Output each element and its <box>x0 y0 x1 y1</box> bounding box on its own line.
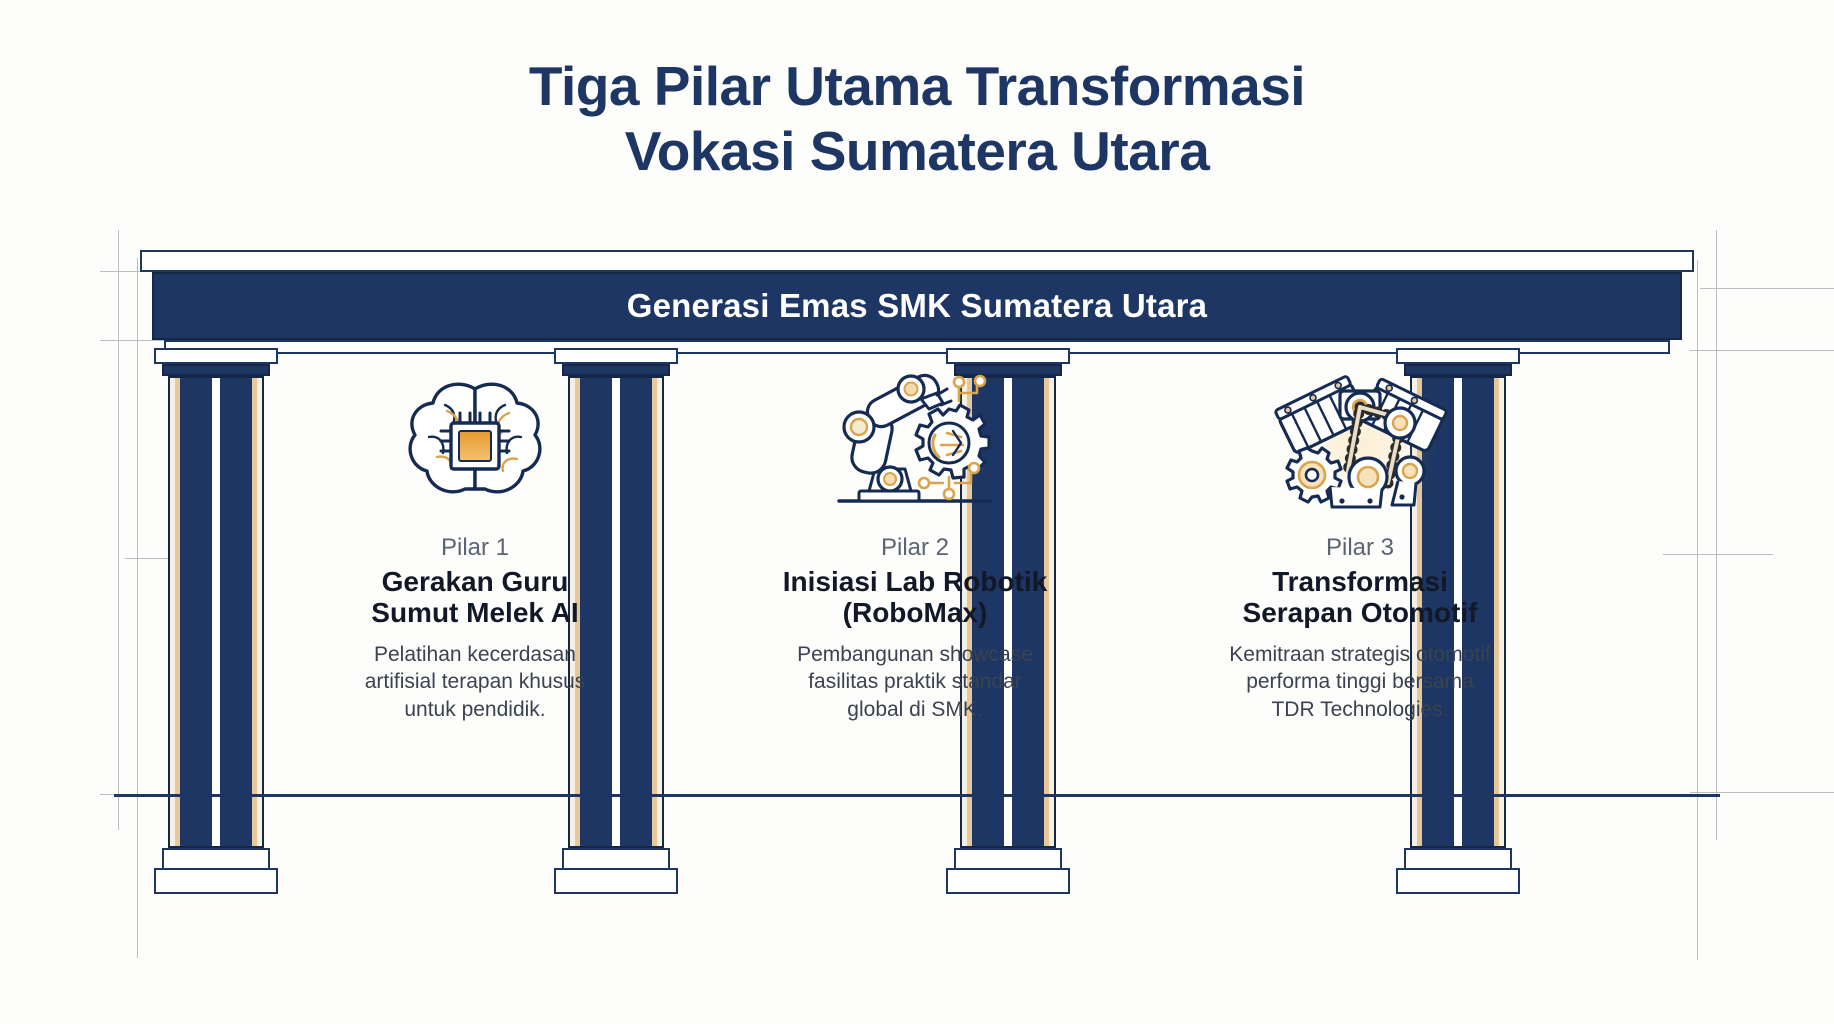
column-2-flute-right <box>652 378 662 846</box>
guide-line-bottom-right <box>1690 792 1834 793</box>
column-2-base-upper <box>562 848 670 870</box>
pillar-1-description: Pelatihan kecerdasan artifisial terapan … <box>365 641 586 724</box>
column-1-flute-right <box>252 378 262 846</box>
column-1-echinus <box>162 364 270 376</box>
guide-line-top-right <box>1700 288 1834 289</box>
pillar-3-desc-line-3: TDR Technologies. <box>1229 696 1490 724</box>
banner-entablature: Generasi Emas SMK Sumatera Utara <box>152 272 1682 340</box>
column-4-base-lower <box>1396 868 1520 894</box>
pillar-2-desc-line-1: Pembangunan showcase <box>797 641 1033 669</box>
pillar-3-title-line-2: Serapan Otomotif <box>1243 597 1478 628</box>
column-1-abacus <box>154 348 278 364</box>
brain-chip-icon <box>380 360 570 520</box>
guide-line-vertical-left <box>137 258 138 958</box>
infographic-canvas: Tiga Pilar Utama Transformasi Vokasi Sum… <box>0 0 1834 1024</box>
pillar-2-desc-line-3: global di SMK. <box>797 696 1033 724</box>
title-line-2: Vokasi Sumatera Utara <box>0 119 1834 184</box>
page-title: Tiga Pilar Utama Transformasi Vokasi Sum… <box>0 54 1834 184</box>
pillar-2-title: Inisiasi Lab Robotik (RoboMax) <box>783 566 1047 629</box>
column-3-base-upper <box>954 848 1062 870</box>
pillar-2-eyebrow: Pilar 2 <box>881 534 949 562</box>
pillar-card-2: Pilar 2 Inisiasi Lab Robotik (RoboMax) P… <box>750 360 1080 724</box>
robot-arm-gear-icon <box>820 360 1010 520</box>
pillar-1-desc-line-1: Pelatihan kecerdasan <box>365 641 586 669</box>
pillar-card-1: Pilar 1 Gerakan Guru Sumut Melek AI Pela… <box>310 360 640 724</box>
column-1-flute-center <box>212 378 220 846</box>
guide-line-vertical-right <box>1697 260 1698 960</box>
flute-cream <box>257 378 262 846</box>
column-2-base-lower <box>554 868 678 894</box>
pillar-1-desc-line-3: untuk pendidik. <box>365 696 586 724</box>
cornice-slab <box>140 250 1694 272</box>
pillar-2-title-line-1: Inisiasi Lab Robotik <box>783 566 1047 597</box>
column-4-base-upper <box>1404 848 1512 870</box>
temple-structure: Generasi Emas SMK Sumatera Utara <box>140 250 1694 950</box>
pillar-1-title-line-2: Sumut Melek AI <box>371 597 578 628</box>
pillar-2-description: Pembangunan showcase fasilitas praktik s… <box>797 641 1033 724</box>
guide-line-mid-right <box>1690 350 1834 351</box>
pillar-3-description: Kemitraan strategis otomotif performa ti… <box>1229 641 1490 724</box>
engine-gear-icon <box>1265 360 1455 520</box>
pillar-2-title-line-2: (RoboMax) <box>783 597 1047 628</box>
pillar-1-title-line-1: Gerakan Guru <box>371 566 578 597</box>
pillar-1-desc-line-2: artifisial terapan khusus <box>365 668 586 696</box>
pillar-3-title-line-1: Transformasi <box>1243 566 1478 597</box>
pillar-3-title: Transformasi Serapan Otomotif <box>1243 566 1478 629</box>
banner-text: Generasi Emas SMK Sumatera Utara <box>627 287 1207 325</box>
flute-cream <box>657 378 662 846</box>
pillar-1-eyebrow: Pilar 1 <box>441 534 509 562</box>
column-1-base-upper <box>162 848 270 870</box>
pillar-3-eyebrow: Pilar 3 <box>1326 534 1394 562</box>
pillar-2-desc-line-2: fasilitas praktik standar <box>797 668 1033 696</box>
title-line-1: Tiga Pilar Utama Transformasi <box>0 54 1834 119</box>
pillar-3-desc-line-1: Kemitraan strategis otomotif <box>1229 641 1490 669</box>
column-1-flute-left <box>170 378 180 846</box>
pillar-card-3: Pilar 3 Transformasi Serapan Otomotif Ke… <box>1195 360 1525 724</box>
column-1 <box>154 348 278 908</box>
flute-gold <box>175 378 180 846</box>
ground-line <box>114 794 1720 797</box>
guide-line-vertical-right-2 <box>1716 230 1717 840</box>
column-1-base-lower <box>154 868 278 894</box>
pillar-1-title: Gerakan Guru Sumut Melek AI <box>371 566 578 629</box>
column-1-shaft <box>168 376 264 848</box>
pillar-3-desc-line-2: performa tinggi bersama <box>1229 668 1490 696</box>
guide-line-vertical-left-2 <box>118 230 119 830</box>
column-3-base-lower <box>946 868 1070 894</box>
